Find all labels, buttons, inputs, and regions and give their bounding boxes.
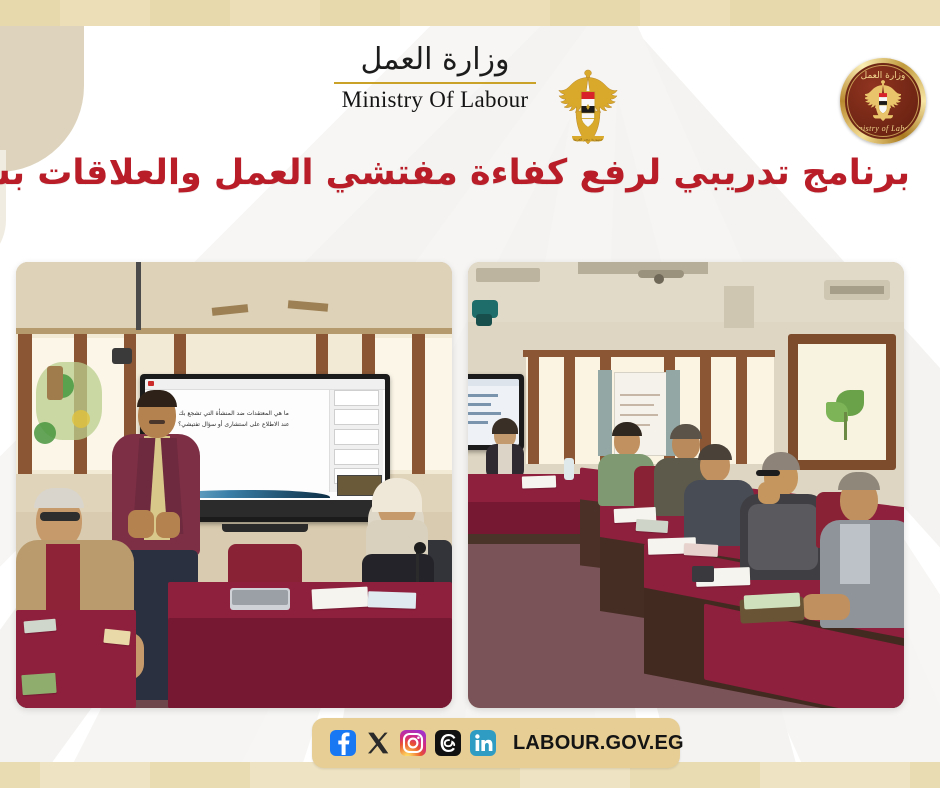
top-band <box>0 0 940 26</box>
wordmark-divider-rule <box>334 82 536 84</box>
egypt-eagle-emblem: جمهورية مصر العربية <box>556 66 620 152</box>
linkedin-icon[interactable] <box>470 730 496 756</box>
slide-text-line-2: عند الاطلاع على استشارى أو سؤال تفتيشي؟ <box>178 421 289 428</box>
svg-text:جمهورية مصر العربية: جمهورية مصر العربية <box>573 137 603 141</box>
ministry-wordmark: وزارة العمل Ministry Of Labour <box>330 44 540 113</box>
photo-right[interactable] <box>468 262 904 708</box>
photo-gallery: ما هي المعتقدات ضد المنشأة التي تشجع بك … <box>16 262 924 708</box>
photo-left[interactable]: ما هي المعتقدات ضد المنشأة التي تشجع بك … <box>16 262 452 708</box>
x-twitter-icon[interactable] <box>365 730 391 756</box>
ministry-wordmark-arabic: وزارة العمل <box>330 44 540 76</box>
facebook-icon[interactable] <box>330 730 356 756</box>
instagram-icon[interactable] <box>400 730 426 756</box>
poster-canvas: وزارة العمل Ministry Of Labour <box>0 0 940 788</box>
seal-eagle-icon <box>865 78 901 122</box>
footer-social-bar: LABOUR.GOV.EG <box>312 718 680 768</box>
slide-text-line-1: ما هي المعتقدات ضد المنشأة التي تشجع بك <box>179 410 289 417</box>
ministry-seal-logo: وزارة العمل M <box>840 58 926 144</box>
seal-english-text: Ministry of Labour <box>847 124 919 133</box>
threads-icon[interactable] <box>435 730 461 756</box>
poster-header: وزارة العمل Ministry Of Labour <box>0 30 940 140</box>
ministry-wordmark-english: Ministry Of Labour <box>330 87 540 113</box>
poster-title: برنامج تدريبي لرفع كفاءة مفتشي العمل وال… <box>30 144 910 202</box>
footer-website-url[interactable]: LABOUR.GOV.EG <box>513 732 684 755</box>
